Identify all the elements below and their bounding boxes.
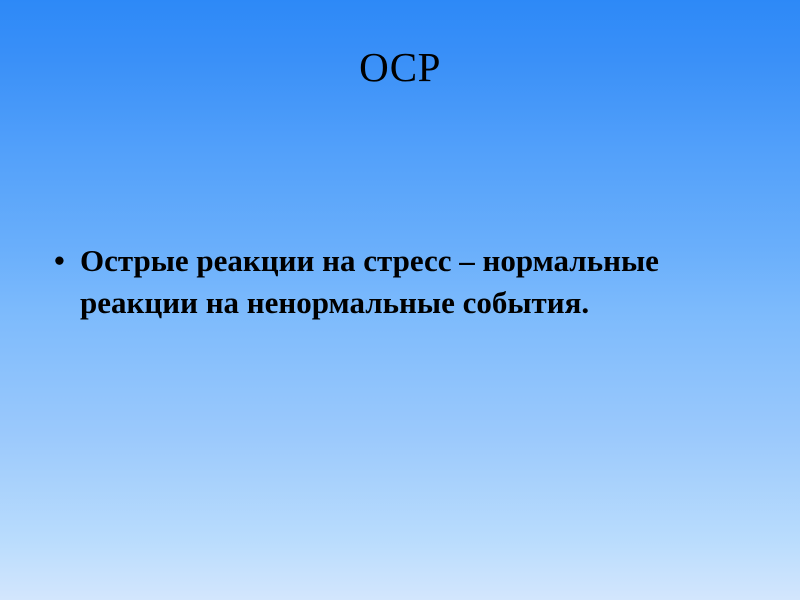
bullet-point-icon: • <box>54 240 74 282</box>
slide-title-placeholder: ОСР <box>50 44 750 90</box>
list-item-label: Острые реакции на стресс – нормальные ре… <box>80 240 760 324</box>
list-item: • Острые реакции на стресс – нормальные … <box>48 240 760 324</box>
presentation-slide: ОСР • Острые реакции на стресс – нормаль… <box>0 0 800 600</box>
bullet-list: • Острые реакции на стресс – нормальные … <box>48 240 760 324</box>
slide-body-placeholder: • Острые реакции на стресс – нормальные … <box>48 240 760 330</box>
page-title: ОСР <box>50 44 750 90</box>
